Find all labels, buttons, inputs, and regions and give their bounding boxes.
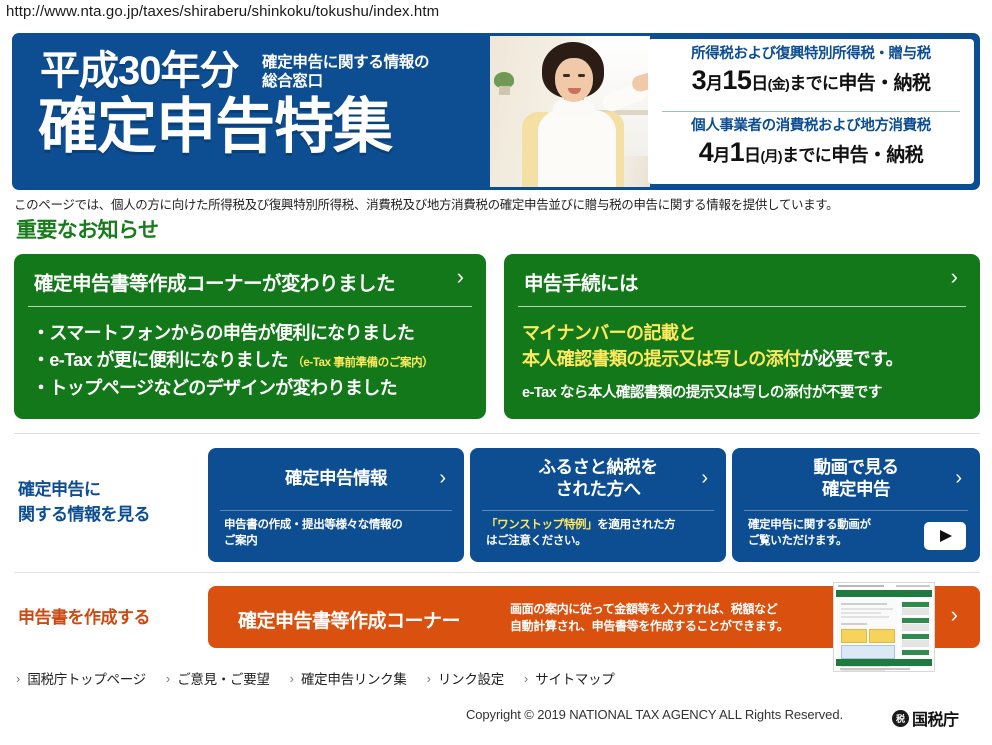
card-desc-rest: を適用された方 [597, 519, 675, 531]
nta-logo-text: 国税庁 [912, 706, 959, 730]
notice-panel-header[interactable]: 確定申告書等作成コーナーが変わりました › [14, 254, 486, 306]
bullet-text: ・スマートフォンからの申告が便利になりました [32, 323, 414, 343]
info-card-video[interactable]: 動画で見る 確定申告 › 確定申告に関する動画が ご覧いただけます。 [732, 448, 980, 562]
chevron-right-icon: › [166, 671, 170, 686]
chevron-right-icon: › [951, 604, 958, 626]
photo-turtleneck [553, 100, 595, 118]
info-card-filing-information[interactable]: 確定申告情報 › 申告書の作成・提出等様々な情報の ご案内 [208, 448, 464, 562]
deadline-weekday: (金) [768, 76, 790, 92]
list-item: ・スマートフォンからの申告が便利になりました [32, 320, 486, 347]
play-icon[interactable] [924, 522, 966, 550]
notice-panel-body: ・スマートフォンからの申告が便利になりました ・e-Tax が更に便利になりまし… [14, 306, 486, 402]
deadline-tail: までに [782, 146, 831, 165]
url-text[interactable]: http://www.nta.go.jp/taxes/shiraberu/shi… [6, 3, 439, 20]
card-divider [220, 510, 452, 511]
info-label-line1: 確定申告に [18, 478, 150, 503]
deadline-day-unit: 日 [751, 74, 767, 93]
section-divider [14, 433, 980, 434]
list-item: ・トップページなどのデザインが変わりました [32, 375, 486, 402]
create-corner-title: 確定申告書等作成コーナー [238, 606, 460, 633]
intro-text: このページでは、個人の方に向けた所得税及び復興特別所得税、消費税及び地方消費税の… [14, 194, 838, 213]
nta-logo: 税 国税庁 [892, 706, 959, 730]
info-section-label: 確定申告に 関する情報を見る [18, 478, 150, 527]
highlight-line-1: マイナンバーの記載と [522, 320, 980, 346]
nta-seal-icon: 税 [892, 710, 909, 727]
copyright-text: Copyright © 2019 NATIONAL TAX AGENCY ALL… [466, 707, 843, 722]
info-card-description: 申告書の作成・提出等様々な情報の ご案内 [224, 518, 402, 550]
photo-plant-pot [499, 86, 510, 95]
footer-link-label: リンク設定 [438, 668, 504, 688]
info-card-description: 「ワンストップ特例」を適用された方 はご注意ください。 [486, 518, 675, 550]
thumbnail-main-column [837, 599, 897, 657]
create-desc-line2: 自動計算され、申告書等を作成することができます。 [510, 618, 789, 635]
card-desc-line2: ご案内 [224, 534, 402, 550]
info-card-header: ふるさと納税を された方へ › [470, 448, 726, 510]
card-title-line1: 動画で見る [814, 457, 899, 479]
photo-eye-right [578, 74, 585, 77]
deadline-item-income-tax: 所得税および復興特別所得税・贈与税 3月15日(金)までに申告・納税 [648, 46, 974, 94]
list-item: ・e-Tax が更に便利になりました （e-Tax 事前準備のご案内） [32, 347, 486, 374]
info-card-header: 動画で見る 確定申告 › [732, 448, 980, 510]
highlight-white-text: が必要です。 [800, 349, 903, 369]
section-divider [14, 572, 980, 573]
play-triangle [940, 530, 952, 542]
highlight-yellow-text: 本人確認書類の提示又は写しの添付 [522, 349, 800, 369]
deadline-month-unit: 月 [713, 146, 729, 165]
chevron-right-icon: › [439, 468, 446, 488]
hero-subtitle: 確定申告に関する情報の 総合窓口 [262, 53, 477, 92]
create-desc-line1: 画面の案内に従って金額等を入力すれば、税額など [510, 601, 789, 618]
footer-link-label: ご意見・ご要望 [177, 668, 269, 688]
footer-link-label: サイトマップ [535, 668, 614, 688]
chevron-right-icon: › [457, 266, 464, 288]
page-root: http://www.nta.go.jp/taxes/shiraberu/shi… [0, 0, 992, 745]
card-desc-line1: 確定申告に関する動画が [748, 518, 871, 534]
card-title-line2: 確定申告 [814, 479, 899, 501]
footer-link-nta-top[interactable]: › 国税庁トップページ [16, 668, 146, 688]
chevron-right-icon: › [701, 468, 708, 488]
deadline-weekday: (月) [760, 148, 782, 164]
page-title: 重要なお知らせ [16, 214, 158, 244]
deadline-label: 個人事業者の消費税および地方消費税 [648, 118, 974, 135]
notice-panel-filing-procedure[interactable]: 申告手続には › マイナンバーの記載と 本人確認書類の提示又は写しの添付が必要で… [504, 254, 980, 419]
hero-banner[interactable]: 平成30年分 確定申告に関する情報の 総合窓口 確定申告特集 [12, 33, 980, 190]
deadline-action: 申告・納税 [838, 73, 930, 94]
deadline-divider [662, 111, 960, 112]
bullet-note[interactable]: （e-Tax 事前準備のご案内） [292, 357, 433, 369]
thumbnail-bar-line [838, 585, 884, 587]
info-card-title: 動画で見る 確定申告 [732, 448, 980, 510]
deadline-tail: までに [789, 74, 838, 93]
card-title-line2: された方へ [539, 479, 658, 501]
deadline-month-number: 4 [699, 137, 713, 167]
info-card-title: 確定申告情報 [208, 448, 464, 510]
chevron-right-icon: › [290, 671, 294, 686]
footer-link-sitemap[interactable]: › サイトマップ [524, 668, 615, 688]
deadline-label: 所得税および復興特別所得税・贈与税 [648, 46, 974, 63]
card-desc-line2: ご覧いただけます。 [748, 534, 871, 550]
hero-subtitle-line1: 確定申告に関する情報の [262, 53, 477, 72]
deadline-item-consumption-tax: 個人事業者の消費税および地方消費税 4月1日(月)までに申告・納税 [648, 118, 974, 166]
card-divider [744, 510, 968, 511]
hero-photo [490, 36, 650, 187]
notice-panel-title: 申告手続には [524, 267, 638, 296]
info-card-description: 確定申告に関する動画が ご覧いただけます。 [748, 518, 871, 550]
notice-sub-line: e-Tax なら本人確認書類の提示又は写しの添付が不要です [522, 381, 980, 402]
highlight-line-2: 本人確認書類の提示又は写しの添付が必要です。 [522, 346, 980, 372]
hero-year: 平成30年分 [40, 51, 239, 91]
footer-links: › 国税庁トップページ › ご意見・ご要望 › 確定申告リンク集 › リンク設定… [16, 668, 614, 688]
bullet-text: ・e-Tax が更に便利になりました [32, 350, 288, 370]
notice-panel-title: 確定申告書等作成コーナーが変わりました [34, 267, 395, 296]
footer-link-label: 国税庁トップページ [27, 668, 146, 688]
thumbnail-site-footer [836, 659, 932, 666]
info-card-header: 確定申告情報 › [208, 448, 464, 510]
footer-link-feedback[interactable]: › ご意見・ご要望 [166, 668, 270, 688]
card-desc-highlight: 「ワンストップ特例」 [486, 519, 597, 531]
notice-panel-creation-corner[interactable]: 確定申告書等作成コーナーが変わりました › ・スマートフォンからの申告が便利にな… [14, 254, 486, 419]
notice-panel-header[interactable]: 申告手続には › [504, 254, 980, 306]
deadline-day-unit: 日 [744, 146, 760, 165]
chevron-right-icon: › [16, 671, 20, 686]
create-section-label: 申告書を作成する [18, 606, 150, 631]
create-corner-description: 画面の案内に従って金額等を入力すれば、税額など 自動計算され、申告書等を作成する… [510, 601, 789, 635]
hero-subtitle-line2: 総合窓口 [262, 72, 477, 91]
deadline-box: 所得税および復興特別所得税・贈与税 3月15日(金)までに申告・納税 個人事業者… [648, 39, 974, 184]
deadline-month-unit: 月 [706, 74, 722, 93]
photo-eye-left [563, 74, 570, 77]
deadline-date: 4月1日(月)までに申告・納税 [648, 139, 974, 166]
footer-link-label: 確定申告リンク集 [301, 668, 407, 688]
thumbnail-footer-line [840, 668, 910, 670]
thumbnail-bar-line [896, 585, 930, 587]
deadline-action: 申告・納税 [831, 145, 923, 166]
notice-panel-body: マイナンバーの記載と 本人確認書類の提示又は写しの添付が必要です。 e-Tax … [504, 306, 980, 402]
photo-face [555, 58, 593, 102]
chevron-right-icon: › [427, 671, 431, 686]
chevron-right-icon: › [524, 671, 528, 686]
deadline-day-number: 1 [730, 137, 744, 167]
card-title-line1: ふるさと納税を [539, 457, 658, 479]
thumbnail-side-column [900, 599, 931, 657]
info-label-line2: 関する情報を見る [18, 503, 150, 528]
deadline-day-number: 15 [722, 65, 751, 95]
info-card-furusato-tax[interactable]: ふるさと納税を された方へ › 「ワンストップ特例」を適用された方 はご注意くだ… [470, 448, 726, 562]
chevron-right-icon: › [955, 468, 962, 488]
card-desc-line1: 申告書の作成・提出等様々な情報の [224, 518, 402, 534]
card-desc-line2: はご注意ください。 [486, 534, 675, 550]
hero-title: 確定申告特集 [38, 97, 392, 157]
hero-left-block: 平成30年分 確定申告に関する情報の 総合窓口 確定申告特集 [12, 33, 482, 190]
card-desc-line1: 「ワンストップ特例」を適用された方 [486, 518, 675, 534]
deadline-month-number: 3 [692, 65, 706, 95]
footer-link-link-settings[interactable]: › リンク設定 [427, 668, 504, 688]
create-corner-thumbnail [833, 582, 935, 672]
bullet-text: ・トップページなどのデザインが変わりました [32, 378, 397, 398]
footer-link-link-collection[interactable]: › 確定申告リンク集 [290, 668, 407, 688]
info-card-title: ふるさと納税を された方へ [470, 448, 726, 510]
photo-torso [538, 110, 616, 187]
card-divider [482, 510, 714, 511]
thumbnail-site-header [836, 590, 932, 597]
deadline-date: 3月15日(金)までに申告・納税 [648, 67, 974, 94]
chevron-right-icon: › [951, 266, 958, 288]
